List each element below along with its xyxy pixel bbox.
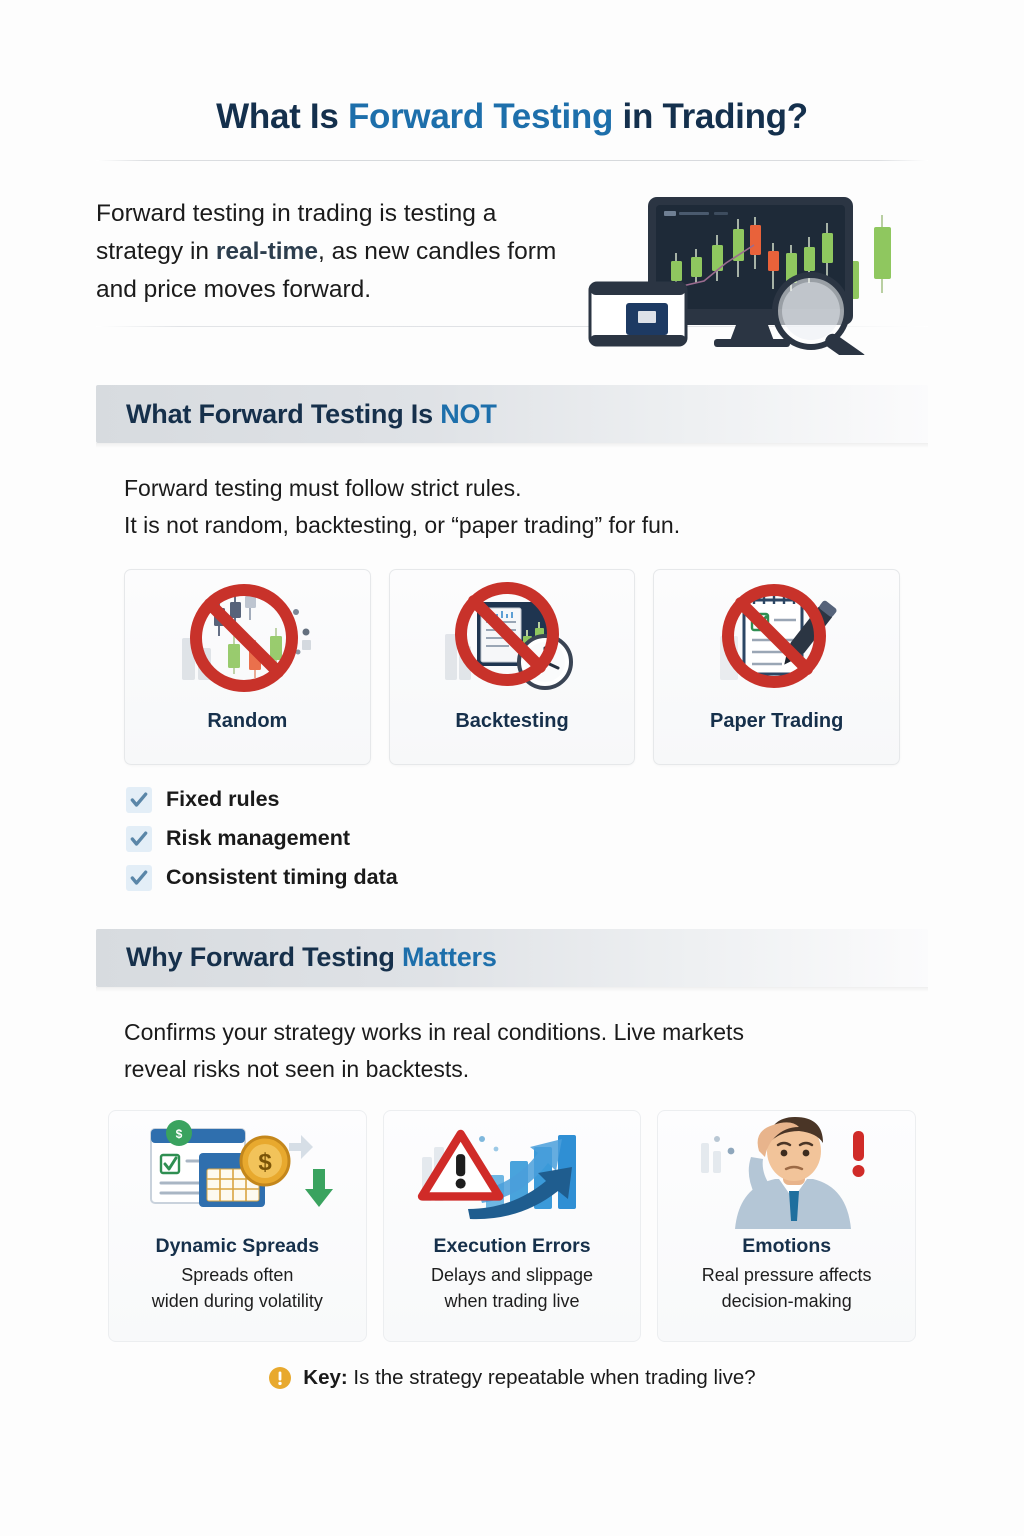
- benefit-cards-row: $ $ Dynamic Spreads: [96, 1110, 928, 1342]
- title-section: What Is Forward Testing in Trading?: [96, 0, 928, 161]
- not-card-paper-trading-label: Paper Trading: [710, 710, 843, 733]
- not-cards-row: Random: [96, 569, 928, 765]
- checklist-item: Risk management: [126, 826, 928, 852]
- title-accent: Forward Testing: [348, 97, 613, 136]
- key-question: Is the strategy repeatable when trading …: [353, 1366, 755, 1389]
- checklist-item: Consistent timing data: [126, 865, 928, 891]
- no-random-candles-icon: [172, 578, 322, 708]
- svg-text:$: $: [259, 1149, 273, 1176]
- benefit-desc-line-2: when trading live: [431, 1289, 593, 1315]
- intro-paragraph: Forward testing in trading is testing a …: [96, 187, 586, 310]
- key-takeaway-row: Key: Is the strategy repeatable when tra…: [96, 1366, 928, 1390]
- intro-line-2-post: , as new candles: [318, 238, 501, 265]
- intro-line-2-pre: strategy in: [96, 238, 216, 265]
- check-icon: [126, 826, 152, 852]
- not-card-random: Random: [124, 569, 371, 765]
- not-card-paper-trading: Paper Trading: [653, 569, 900, 765]
- check-icon: [126, 865, 152, 891]
- section-not-body-line-2: It is not random, backtesting, or “paper…: [124, 507, 928, 544]
- not-card-backtesting: Backtesting: [389, 569, 636, 765]
- section-header-matters: Why Forward Testing Matters: [96, 929, 928, 987]
- section-not-title: What Forward Testing Is NOT: [126, 399, 497, 430]
- benefit-title: Dynamic Spreads: [156, 1235, 320, 1258]
- benefit-card-dynamic-spreads: $ $ Dynamic Spreads: [108, 1110, 367, 1342]
- intro-line-1: Forward testing in trading is testing a: [96, 200, 496, 227]
- section-matters-title-accent: Matters: [402, 942, 497, 972]
- warning-circle-icon: [268, 1366, 292, 1390]
- benefit-desc-line-2: widen during volatility: [152, 1289, 323, 1315]
- benefit-card-execution-errors: Execution Errors Delays and slippage whe…: [383, 1110, 642, 1342]
- benefit-title: Execution Errors: [433, 1235, 590, 1258]
- no-backtesting-clock-icon: [437, 578, 587, 708]
- section-header-not-shadow: [96, 443, 928, 448]
- key-takeaway-text: Key: Is the strategy repeatable when tra…: [303, 1366, 755, 1390]
- section-matters-body-line-2: reveal risks not seen in backtests.: [124, 1051, 928, 1088]
- infographic-page: What Is Forward Testing in Trading? Forw…: [0, 0, 1024, 1536]
- benefit-description: Delays and slippage when trading live: [421, 1263, 603, 1314]
- svg-text:$: $: [176, 1127, 183, 1141]
- no-paper-trading-pen-icon: [702, 578, 852, 708]
- trading-monitor-illustration: [586, 183, 936, 355]
- checklist-item: Fixed rules: [126, 787, 928, 813]
- benefit-card-emotions: Emotions Real pressure affects decision-…: [657, 1110, 916, 1342]
- benefit-description: Spreads often widen during volatility: [142, 1263, 333, 1314]
- section-matters-title-plain: Why Forward Testing: [126, 942, 402, 972]
- benefit-desc-line-1: Spreads often: [152, 1263, 323, 1289]
- dynamic-spreads-icon: $ $: [137, 1117, 337, 1229]
- benefit-title: Emotions: [742, 1235, 831, 1258]
- requirements-checklist: Fixed rules Risk management Consistent t…: [96, 787, 928, 891]
- execution-errors-icon: [412, 1117, 612, 1229]
- benefit-desc-line-1: Real pressure affects: [702, 1263, 872, 1289]
- checklist-item-label: Risk management: [166, 826, 350, 851]
- checklist-item-label: Consistent timing data: [166, 865, 398, 890]
- emotions-icon: [687, 1117, 887, 1229]
- title-part1: What Is: [216, 97, 348, 136]
- key-label: Key:: [303, 1366, 347, 1389]
- page-title: What Is Forward Testing in Trading?: [96, 96, 928, 138]
- section-matters-body: Confirms your strategy works in real con…: [96, 1014, 928, 1089]
- intro-line-2-bold: real-time: [216, 238, 318, 265]
- section-not-body: Forward testing must follow strict rules…: [96, 470, 928, 545]
- benefit-desc-line-2: decision-making: [702, 1289, 872, 1315]
- section-not-body-line-1: Forward testing must follow strict rules…: [124, 470, 928, 507]
- title-part2: in Trading?: [613, 97, 808, 136]
- section-header-matters-shadow: [96, 987, 928, 992]
- section-header-not: What Forward Testing Is NOT: [96, 385, 928, 443]
- not-card-random-label: Random: [207, 710, 287, 733]
- section-not-title-accent: NOT: [440, 399, 496, 429]
- section-matters-body-line-1: Confirms your strategy works in real con…: [124, 1014, 928, 1051]
- intro-section: Forward testing in trading is testing a …: [96, 187, 928, 347]
- section-not-title-plain: What Forward Testing Is: [126, 399, 440, 429]
- check-icon: [126, 787, 152, 813]
- checklist-item-label: Fixed rules: [166, 787, 280, 812]
- benefit-desc-line-1: Delays and slippage: [431, 1263, 593, 1289]
- not-card-backtesting-label: Backtesting: [455, 710, 568, 733]
- title-divider: [96, 160, 928, 161]
- section-matters-title: Why Forward Testing Matters: [126, 942, 497, 973]
- benefit-description: Real pressure affects decision-making: [692, 1263, 882, 1314]
